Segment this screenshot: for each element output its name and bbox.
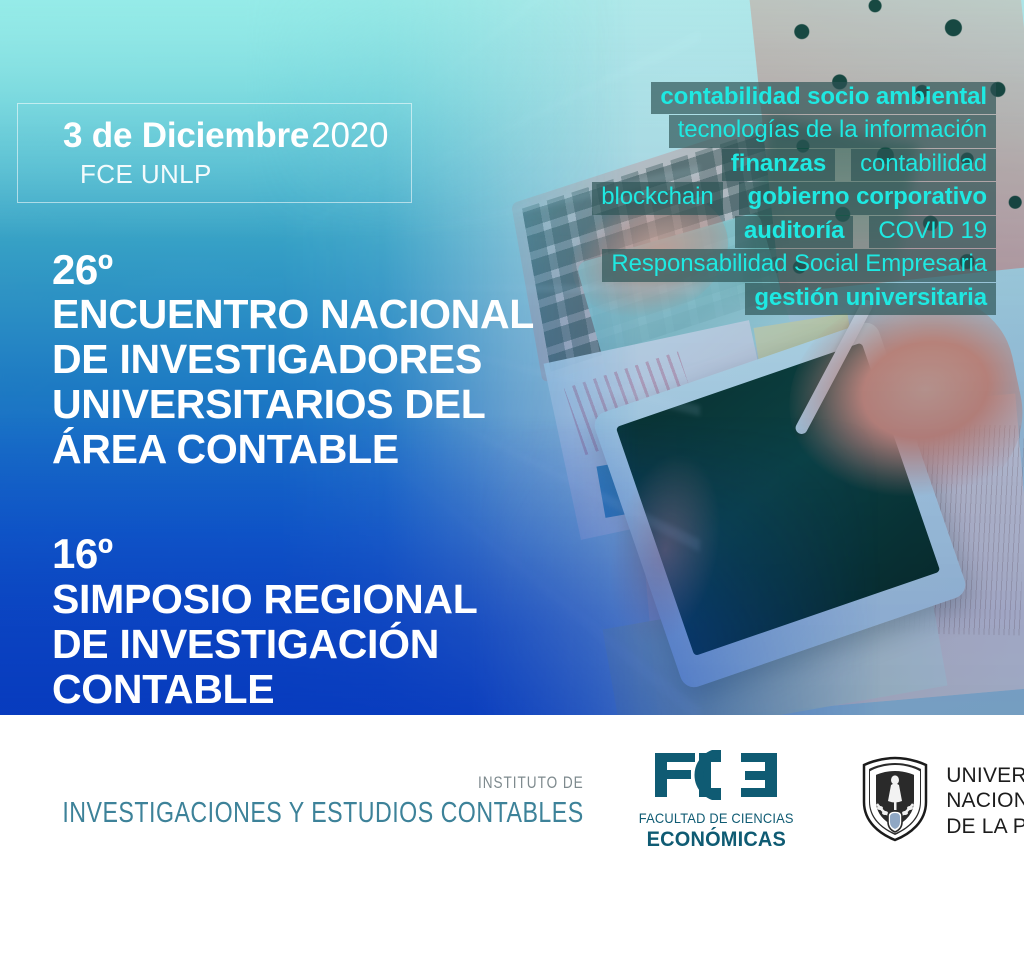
event-one-line-4: ÁREA CONTABLE <box>52 427 612 472</box>
institute-name: INVESTIGACIONES Y ESTUDIOS CONTABLES <box>62 797 583 830</box>
event-date-day: 3 de Diciembre <box>63 116 309 155</box>
keyword-tag: gestión universitaria <box>745 283 996 315</box>
keyword-tag-row: auditoría COVID 19 <box>735 216 996 248</box>
footer-logos: INSTITUTO DE INVESTIGACIONES Y ESTUDIOS … <box>0 715 1024 962</box>
keyword-tag: Responsabilidad Social Empresaria <box>602 249 996 281</box>
unlp-line-2: NACIONAL <box>946 789 1024 812</box>
keyword-tag-row: finanzas contabilidad <box>722 149 996 181</box>
event-date-box: 3 de Diciembre2020 FCE UNLP <box>17 103 412 203</box>
keyword-tag: tecnologías de la información <box>669 115 996 147</box>
unlp-line-1: UNIVERSIDAD <box>946 764 1024 787</box>
institute-prefix: INSTITUTO DE <box>62 773 583 793</box>
institute-lockup: INSTITUTO DE INVESTIGACIONES Y ESTUDIOS … <box>0 773 610 830</box>
event-one-edition: 26º <box>52 248 612 292</box>
unlp-line-3: DE LA PLATA <box>946 815 1024 838</box>
keyword-tag: contabilidad <box>851 149 996 181</box>
event-two-edition: 16º <box>52 532 612 576</box>
event-two-line-1: SIMPOSIO REGIONAL <box>52 577 612 622</box>
keyword-tag: COVID 19 <box>869 216 996 248</box>
event-one-line-1: ENCUENTRO NACIONAL <box>52 292 612 337</box>
event-date: 3 de Diciembre2020 <box>63 118 388 153</box>
event-two-line-2: DE INVESTIGACIÓN <box>52 622 612 667</box>
event-poster: 3 de Diciembre2020 FCE UNLP contabilidad… <box>0 0 1024 962</box>
event-one-title: 26º ENCUENTRO NACIONAL DE INVESTIGADORES… <box>52 248 612 472</box>
fce-line-1: FACULTAD DE CIENCIAS <box>639 810 794 826</box>
fce-logo-lockup: FACULTAD DE CIENCIAS ECONÓMICAS <box>610 750 822 852</box>
fce-monogram-icon <box>655 750 777 805</box>
event-venue: FCE UNLP <box>80 161 212 187</box>
event-two-line-3: CONTABLE <box>52 667 612 712</box>
hero-banner: 3 de Diciembre2020 FCE UNLP contabilidad… <box>0 0 1024 715</box>
event-two-title: 16º SIMPOSIO REGIONAL DE INVESTIGACIÓN C… <box>52 532 612 711</box>
keyword-tag: auditoría <box>735 216 853 248</box>
keyword-tag: contabilidad socio ambiental <box>651 82 996 114</box>
fce-line-2: ECONÓMICAS <box>646 828 785 852</box>
event-one-line-3: UNIVERSITARIOS DEL <box>52 382 612 427</box>
footer-logo-row: INSTITUTO DE INVESTIGACIONES Y ESTUDIOS … <box>0 750 1024 852</box>
unlp-seal-icon <box>858 756 932 847</box>
event-one-line-2: DE INVESTIGADORES <box>52 337 612 382</box>
keyword-tag-row: blockchain gobierno corporativo <box>592 182 996 214</box>
keyword-tag: finanzas <box>722 149 835 181</box>
unlp-logo-lockup: UNIVERSIDAD NACIONAL DE LA PLATA <box>854 756 1024 847</box>
keyword-tag: gobierno corporativo <box>739 182 996 214</box>
unlp-name: UNIVERSIDAD NACIONAL DE LA PLATA <box>946 763 1024 840</box>
event-titles: 26º ENCUENTRO NACIONAL DE INVESTIGADORES… <box>52 248 612 712</box>
keyword-tag: blockchain <box>592 182 722 214</box>
